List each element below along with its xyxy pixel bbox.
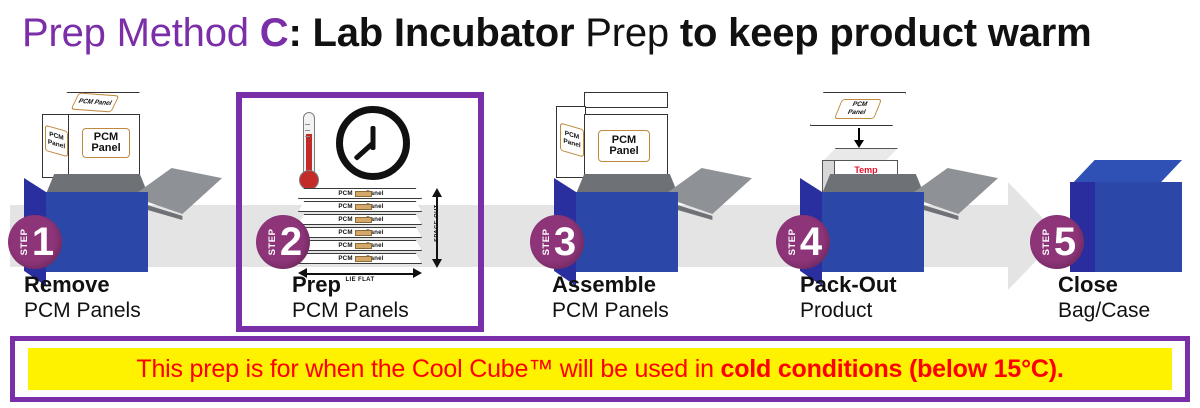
slab-text-left: PCM bbox=[338, 255, 352, 262]
title-method-letter: C bbox=[260, 11, 289, 55]
carton-front-label: PCM Panel bbox=[598, 130, 650, 162]
step-5-badge: STEP 5 bbox=[1030, 215, 1084, 269]
thermometer-tick bbox=[305, 124, 310, 125]
step-5-badge-number: 5 bbox=[1048, 214, 1082, 270]
title-prep-word: Prep bbox=[585, 11, 680, 55]
step-1-caption-bold: Remove bbox=[24, 272, 274, 298]
pcm-panel-slab: PCM Panel bbox=[298, 214, 422, 225]
step-4-badge: STEP 4 bbox=[776, 215, 830, 269]
sheet-label-line1: PCM bbox=[851, 101, 869, 109]
space-out-annotation: SPACE OUT bbox=[426, 188, 448, 268]
pcm-panel-sheet-icon: PCM Panel bbox=[810, 92, 906, 126]
title-prep-method: Prep Method bbox=[22, 11, 260, 55]
step-1-badge: STEP 1 bbox=[8, 215, 62, 269]
pcm-panel-chip bbox=[355, 217, 372, 223]
box-interior bbox=[576, 174, 678, 194]
pcm-panel-slab: PCM Panel bbox=[298, 227, 422, 238]
step-4[interactable]: PCM Panel Temp Sensitive Product bbox=[768, 92, 1018, 332]
step-5-caption-regular: Bag/Case bbox=[1058, 298, 1200, 324]
pcm-panel-chip bbox=[355, 230, 372, 236]
step-3-badge: STEP 3 bbox=[530, 215, 584, 269]
banner-text-regular: This prep is for when the Cool Cube™ wil… bbox=[136, 355, 720, 383]
step-3[interactable]: PCM Panel PCM Panel STEP 3 bbox=[508, 92, 758, 332]
box-interior bbox=[46, 174, 148, 194]
sheet-label: PCM Panel bbox=[834, 99, 882, 119]
step-5-caption-bold: Close bbox=[1058, 272, 1200, 298]
banner-text: This prep is for when the Cool Cube™ wil… bbox=[136, 353, 1063, 385]
clock-icon bbox=[336, 106, 410, 180]
title-lab-incubator: Lab Incubator bbox=[312, 11, 585, 55]
step-4-badge-number: 4 bbox=[794, 214, 828, 270]
step-1[interactable]: PCM Panel PCM Panel PCM Panel bbox=[0, 92, 250, 332]
pcm-panel-stack: PCM Panel PCM Panel bbox=[298, 188, 448, 280]
arrow-small-head bbox=[854, 140, 864, 148]
cube-top-label: PCM Panel bbox=[71, 93, 120, 113]
pcm-panel-slab: PCM Panel bbox=[298, 253, 422, 264]
step-5-caption: Close Bag/Case bbox=[1058, 272, 1200, 324]
thermometer-tick bbox=[305, 136, 310, 137]
step-2-badge-number: 2 bbox=[274, 214, 308, 270]
step-1-badge-number: 1 bbox=[26, 214, 60, 270]
clock-minute-hand bbox=[353, 141, 374, 161]
box-interior bbox=[822, 174, 924, 194]
step-3-caption: Assemble PCM Panels bbox=[552, 272, 802, 324]
carton-front-label-line2: Panel bbox=[609, 146, 638, 158]
cube-front-label: PCM Panel bbox=[82, 128, 130, 158]
thermometer-icon bbox=[296, 112, 322, 198]
slab-text-left: PCM bbox=[338, 242, 352, 249]
pcm-panel-slab: PCM Panel bbox=[298, 240, 422, 251]
step-2-caption-bold: Prep bbox=[292, 272, 542, 298]
step-4-caption-regular: Product bbox=[800, 298, 1050, 324]
step-2-caption-regular: PCM Panels bbox=[292, 298, 542, 324]
banner-text-bold: cold conditions (below 15°C). bbox=[721, 355, 1064, 383]
space-out-label: SPACE OUT bbox=[434, 194, 440, 252]
box-front-face bbox=[822, 192, 924, 272]
title-tagline: to keep product warm bbox=[680, 11, 1092, 55]
thermometer-bulb bbox=[299, 170, 319, 190]
step-4-caption-bold: Pack-Out bbox=[800, 272, 1050, 298]
step-4-caption: Pack-Out Product bbox=[800, 272, 1050, 324]
pcm-panel-chip bbox=[355, 256, 372, 262]
box-front-face bbox=[576, 192, 678, 272]
thermometer-tick bbox=[305, 130, 310, 131]
step-3-caption-bold: Assemble bbox=[552, 272, 802, 298]
step-2-caption: Prep PCM Panels bbox=[292, 272, 542, 324]
pcm-panel-chip bbox=[355, 204, 372, 210]
slab-text-left: PCM bbox=[338, 229, 352, 236]
pcm-panel-slab: PCM Panel bbox=[298, 188, 422, 199]
cold-conditions-banner: This prep is for when the Cool Cube™ wil… bbox=[28, 348, 1172, 390]
page-title: Prep Method C: Lab Incubator Prep to kee… bbox=[22, 8, 1182, 60]
step-2[interactable]: PCM Panel PCM Panel bbox=[248, 92, 498, 332]
slab-text-left: PCM bbox=[338, 216, 352, 223]
slab-text-left: PCM bbox=[338, 203, 352, 210]
box-front-face bbox=[46, 192, 148, 272]
step-2-badge: STEP 2 bbox=[256, 215, 310, 269]
cube-front-label-line2: Panel bbox=[91, 143, 120, 155]
closed-box-front-face bbox=[1095, 182, 1182, 272]
pcm-panel-chip bbox=[355, 243, 372, 249]
sheet-label-line2: Panel bbox=[846, 109, 867, 117]
step-3-caption-regular: PCM Panels bbox=[552, 298, 802, 324]
step-5[interactable]: STEP 5 Close Bag/Case bbox=[1020, 92, 1200, 332]
step-3-badge-number: 3 bbox=[548, 214, 582, 270]
carton-back-right-flap bbox=[584, 92, 668, 108]
step-1-caption-regular: PCM Panels bbox=[24, 298, 274, 324]
space-out-bottom-arrow bbox=[432, 259, 442, 268]
arrow-down-small-icon bbox=[854, 128, 864, 148]
pcm-panel-chip bbox=[355, 191, 372, 197]
closed-blue-box-icon bbox=[1070, 160, 1182, 272]
infographic-canvas: Prep Method C: Lab Incubator Prep to kee… bbox=[0, 0, 1200, 408]
step-1-caption: Remove PCM Panels bbox=[24, 272, 274, 324]
pcm-panel-slab: PCM Panel bbox=[298, 201, 422, 212]
title-colon: : bbox=[288, 11, 312, 55]
slab-text-left: PCM bbox=[338, 190, 352, 197]
